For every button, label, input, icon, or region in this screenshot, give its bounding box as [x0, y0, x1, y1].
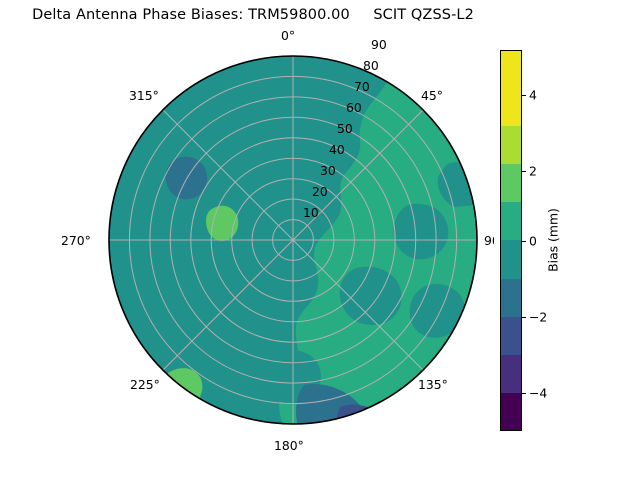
r-tick-40: 40: [329, 142, 345, 157]
colorbar-tick-0: [522, 241, 526, 242]
theta-tick-45: 45°: [421, 88, 443, 103]
theta-tick-180: 180°: [274, 438, 304, 453]
colorbar-tick-minus4: [522, 393, 526, 394]
colorbar-band-3: [500, 279, 522, 317]
r-tick-30: 30: [320, 163, 336, 178]
colorbar-tick-minus2: [522, 317, 526, 318]
r-tick-80: 80: [363, 58, 379, 73]
theta-tick-225: 225°: [130, 377, 160, 392]
r-tick-10: 10: [303, 205, 319, 220]
polar-plot-svg: [108, 55, 478, 425]
colorbar-band-8: [500, 88, 522, 126]
colorbar-tick-4: [522, 95, 526, 96]
angular-gridlines: [109, 56, 477, 424]
colorbar-ticklabel-minus4: −4: [529, 385, 547, 400]
chart-title: Delta Antenna Phase Biases: TRM59800.00 …: [0, 7, 506, 23]
colorbar-ticklabel-0: 0: [529, 233, 537, 248]
polar-axes: 10 20 30 40 50 60 70 80 90: [108, 55, 478, 425]
r-tick-70: 70: [354, 79, 370, 94]
colorbar-tick-2: [522, 171, 526, 172]
colorbar-ticklabel-minus2: −2: [529, 309, 547, 324]
r-tick-20: 20: [312, 184, 328, 199]
r-tick-50: 50: [337, 121, 353, 136]
colorbar-band-0: [500, 393, 522, 431]
colorbar-band-5: [500, 202, 522, 240]
theta-tick-135: 135°: [418, 377, 448, 392]
theta-tick-270: 270°: [61, 233, 91, 248]
theta-tick-315: 315°: [129, 88, 159, 103]
figure-canvas: Delta Antenna Phase Biases: TRM59800.00 …: [0, 0, 640, 480]
colorbar-band-9: [500, 50, 522, 88]
theta-tick-0: 0°: [281, 28, 295, 43]
colorbar: 4 2 0 −2 −4: [500, 50, 522, 431]
r-tick-90: 90: [371, 37, 387, 52]
colorbar-band-4: [500, 240, 522, 278]
colorbar-gradient: [500, 50, 522, 431]
r-tick-60: 60: [346, 100, 362, 115]
colorbar-ticklabel-2: 2: [529, 164, 537, 179]
colorbar-band-1: [500, 355, 522, 393]
colorbar-ticklabel-4: 4: [529, 88, 537, 103]
colorbar-band-6: [500, 164, 522, 202]
colorbar-band-7: [500, 126, 522, 164]
colorbar-band-2: [500, 317, 522, 355]
colorbar-axis-label: Bias (mm): [546, 208, 561, 272]
